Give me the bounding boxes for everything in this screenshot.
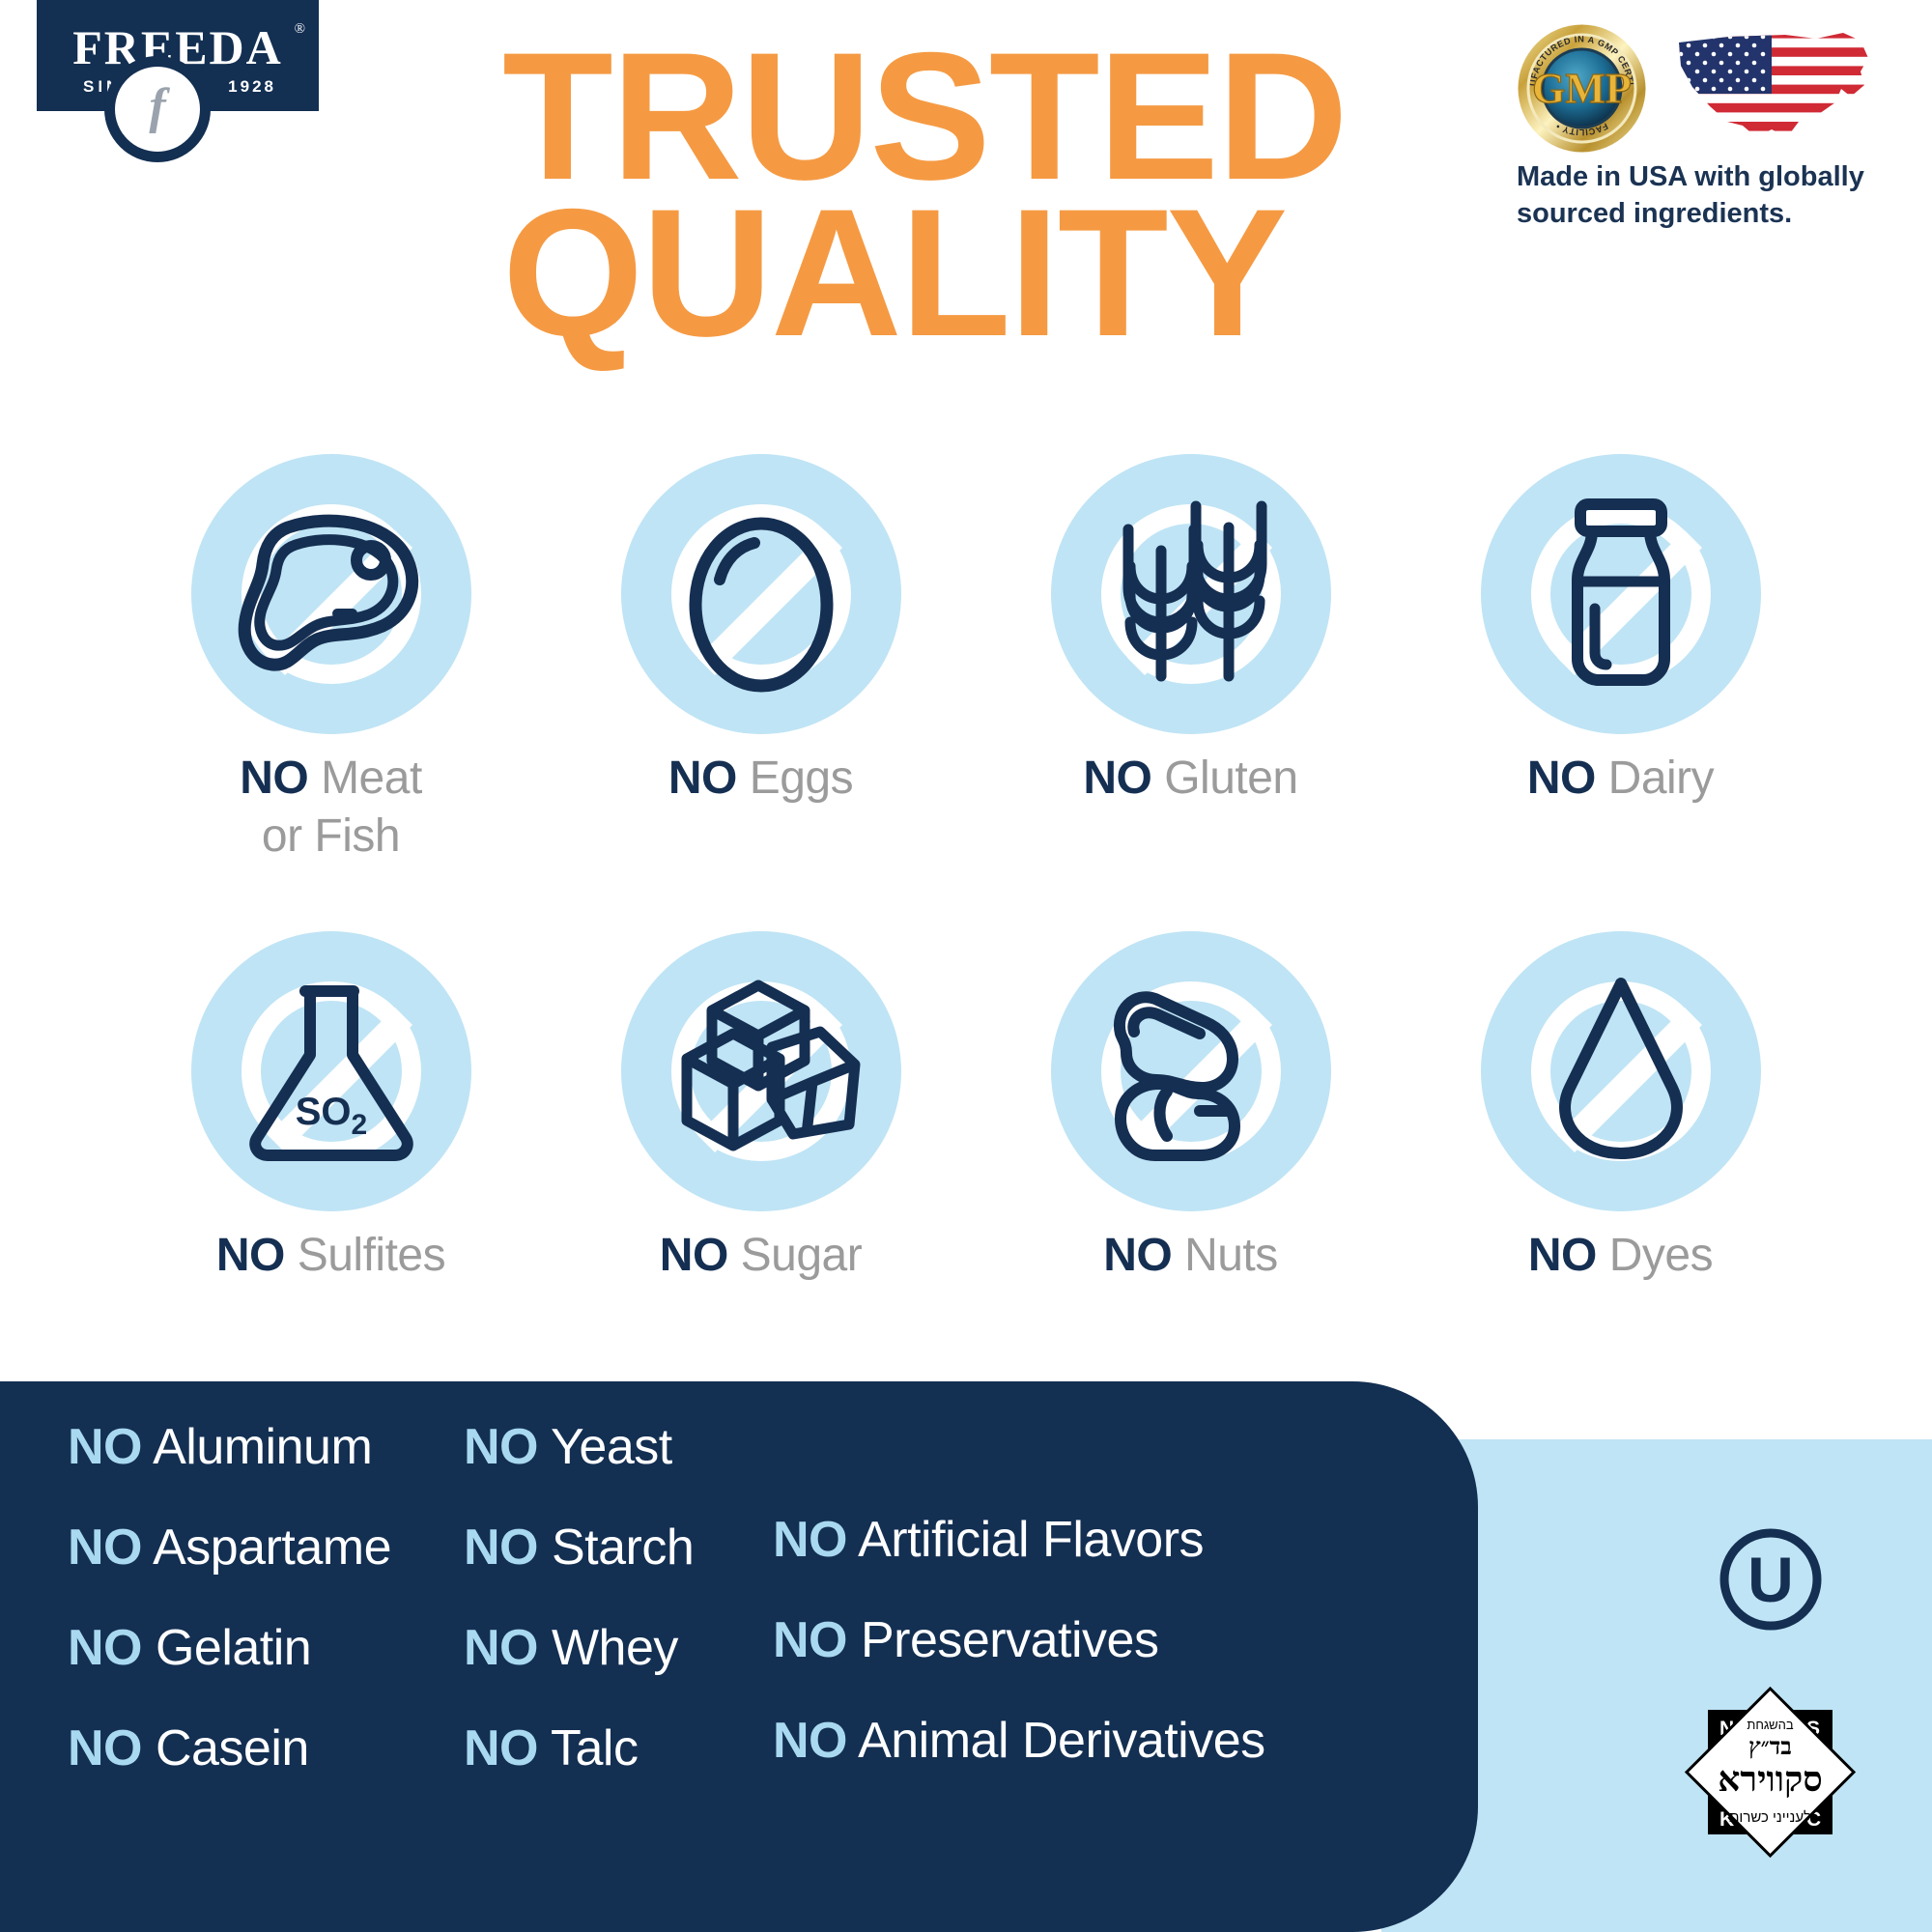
no-prefix: NO (464, 1620, 538, 1676)
icon-label-text: Dyes (1609, 1230, 1713, 1281)
skver-line-1: בד״ץ (1748, 1735, 1792, 1760)
milk-bottle-icon (1481, 454, 1761, 734)
icon-label-text: Nuts (1184, 1230, 1278, 1281)
icon-label-nuts: NO Nuts (976, 1227, 1406, 1285)
icon-cell-dairy: NO Dairy (1406, 454, 1835, 866)
free-from-label: Starch (552, 1520, 694, 1576)
free-from-label: Aluminum (153, 1419, 372, 1475)
free-from-label: Gelatin (156, 1620, 311, 1676)
svg-text:SO2: SO2 (295, 1091, 366, 1141)
no-prefix: NO (240, 753, 308, 804)
icon-label-text: Sulfites (298, 1230, 445, 1281)
free-from-label: Preservatives (861, 1612, 1159, 1668)
no-prefix: NO (68, 1419, 142, 1475)
logo-monogram-badge: f (115, 67, 200, 152)
icon-row-1: NO Meat or Fish (116, 454, 1835, 866)
free-from-panel: NO Aluminum NO Aspartame NO Gelatin NO C… (0, 1381, 1478, 1932)
icon-cell-sugar: NO Sugar (546, 931, 976, 1285)
free-from-item: NO Preservatives (773, 1615, 1449, 1665)
no-prefix: NO (464, 1419, 538, 1475)
ou-letter: U (1747, 1544, 1794, 1615)
no-prefix: NO (68, 1520, 142, 1576)
no-prefix: NO (464, 1520, 538, 1576)
no-prefix: NO (216, 1230, 285, 1281)
free-from-label: Casein (156, 1720, 309, 1776)
flask-sulfites-icon: SO2 (191, 931, 471, 1211)
registered-mark: ® (295, 21, 305, 38)
peanuts-nuts-icon (1051, 931, 1331, 1211)
no-prefix: NO (1083, 753, 1151, 804)
gmp-seal-icon: MANUFACTURED IN A GMP CERTIFIED FACILITY… (1517, 23, 1647, 154)
icon-label-gluten: NO Gluten (976, 750, 1406, 808)
icon-label-text: Dairy (1608, 753, 1715, 804)
icon-cell-gluten: NO Gluten (976, 454, 1406, 866)
icon-label-text: Sugar (741, 1230, 863, 1281)
free-from-label: Yeast (551, 1419, 672, 1475)
icon-label-dyes: NO Dyes (1406, 1227, 1835, 1285)
no-prefix: NO (773, 1512, 847, 1568)
wheat-gluten-icon (1051, 454, 1331, 734)
icon-label-sugar: NO Sugar (546, 1227, 976, 1285)
made-in-usa-line-2: sourced ingredients. (1517, 195, 1903, 232)
water-droplet-dye-icon (1481, 931, 1761, 1211)
infographic-page: FREEDA ® SINCE 1928 f TRUSTED QUALITY (0, 0, 1932, 1932)
egg-icon (621, 454, 901, 734)
free-from-item: NO Aspartame (68, 1522, 396, 1573)
icon-label-text: Meat (321, 753, 422, 804)
ou-kosher-icon: U (1718, 1526, 1824, 1633)
free-from-column-3: NO Artificial Flavors NO Preservatives N… (773, 1515, 1449, 1816)
flask-so2-text: SO (295, 1091, 351, 1133)
flask-so2-sub: 2 (351, 1109, 367, 1141)
title-line-2: QUALITY (502, 195, 1459, 352)
no-prefix: NO (668, 753, 737, 804)
made-in-usa-line-1: Made in USA with globally (1517, 158, 1903, 195)
free-from-label: Aspartame (153, 1520, 391, 1576)
icon-cell-dyes: NO Dyes (1406, 931, 1835, 1285)
icon-cell-meat: NO Meat or Fish (116, 454, 546, 866)
icon-row-2: SO2 NO Sulfites (116, 931, 1835, 1285)
skver-line-2: סקווירא (1718, 1760, 1822, 1799)
free-from-item: NO Casein (68, 1723, 396, 1774)
free-from-column-1: NO Aluminum NO Aspartame NO Gelatin NO C… (68, 1422, 396, 1824)
free-from-item: NO Animal Derivatives (773, 1716, 1449, 1766)
skver-line-3: לענייני כשרות (1729, 1809, 1811, 1826)
free-from-item: NO Whey (464, 1623, 753, 1673)
free-from-label: Talc (551, 1720, 638, 1776)
free-from-item: NO Talc (464, 1723, 753, 1774)
since-year: 1928 (228, 77, 276, 97)
page-title: TRUSTED QUALITY (502, 39, 1459, 351)
skver-kosher-icon: N S K C בהשגחת בד״ץ סקווירא לענייני כשרו… (1681, 1683, 1860, 1861)
no-prefix: NO (68, 1720, 142, 1776)
svg-text:GMP: GMP (1532, 65, 1632, 112)
free-from-item: NO Aluminum (68, 1422, 396, 1472)
free-from-column-2: NO Yeast NO Starch NO Whey NO Talc (464, 1422, 753, 1824)
made-in-usa-text: Made in USA with globally sourced ingred… (1517, 158, 1903, 233)
no-prefix: NO (660, 1230, 728, 1281)
no-prefix: NO (1527, 753, 1596, 804)
free-from-item: NO Starch (464, 1522, 753, 1573)
no-prefix: NO (464, 1720, 538, 1776)
icon-cell-sulfites: SO2 NO Sulfites (116, 931, 546, 1285)
icon-label-dairy: NO Dairy (1406, 750, 1835, 808)
no-prefix: NO (1103, 1230, 1172, 1281)
skver-top-text: בהשגחת (1747, 1718, 1794, 1732)
icon-label-text-2: or Fish (116, 808, 546, 866)
icon-cell-nuts: NO Nuts (976, 931, 1406, 1285)
no-prefix: NO (773, 1713, 847, 1769)
free-from-label: Whey (552, 1620, 678, 1676)
icon-cell-eggs: NO Eggs (546, 454, 976, 866)
no-prefix: NO (68, 1620, 142, 1676)
free-from-item: NO Artificial Flavors (773, 1515, 1449, 1565)
icon-label-sulfites: NO Sulfites (116, 1227, 546, 1285)
icon-label-eggs: NO Eggs (546, 750, 976, 808)
certification-area: MANUFACTURED IN A GMP CERTIFIED FACILITY… (1517, 23, 1903, 149)
icon-label-text: Gluten (1164, 753, 1297, 804)
free-from-item: NO Gelatin (68, 1623, 396, 1673)
monogram-f-icon: f (149, 82, 165, 132)
usa-flag-map-icon (1671, 29, 1879, 150)
steak-meat-icon (191, 454, 471, 734)
free-from-label: Artificial Flavors (858, 1512, 1204, 1568)
icon-label-text: Eggs (750, 753, 853, 804)
free-from-item: NO Yeast (464, 1422, 753, 1472)
no-prefix: NO (1528, 1230, 1597, 1281)
no-prefix: NO (773, 1612, 847, 1668)
allergen-icon-grid: NO Meat or Fish (116, 454, 1835, 1285)
free-from-label: Animal Derivatives (858, 1713, 1265, 1769)
sugar-cubes-icon (621, 931, 901, 1211)
free-from-list: NO Aluminum NO Aspartame NO Gelatin NO C… (0, 1381, 1478, 1932)
icon-label-meat: NO Meat or Fish (116, 750, 546, 866)
